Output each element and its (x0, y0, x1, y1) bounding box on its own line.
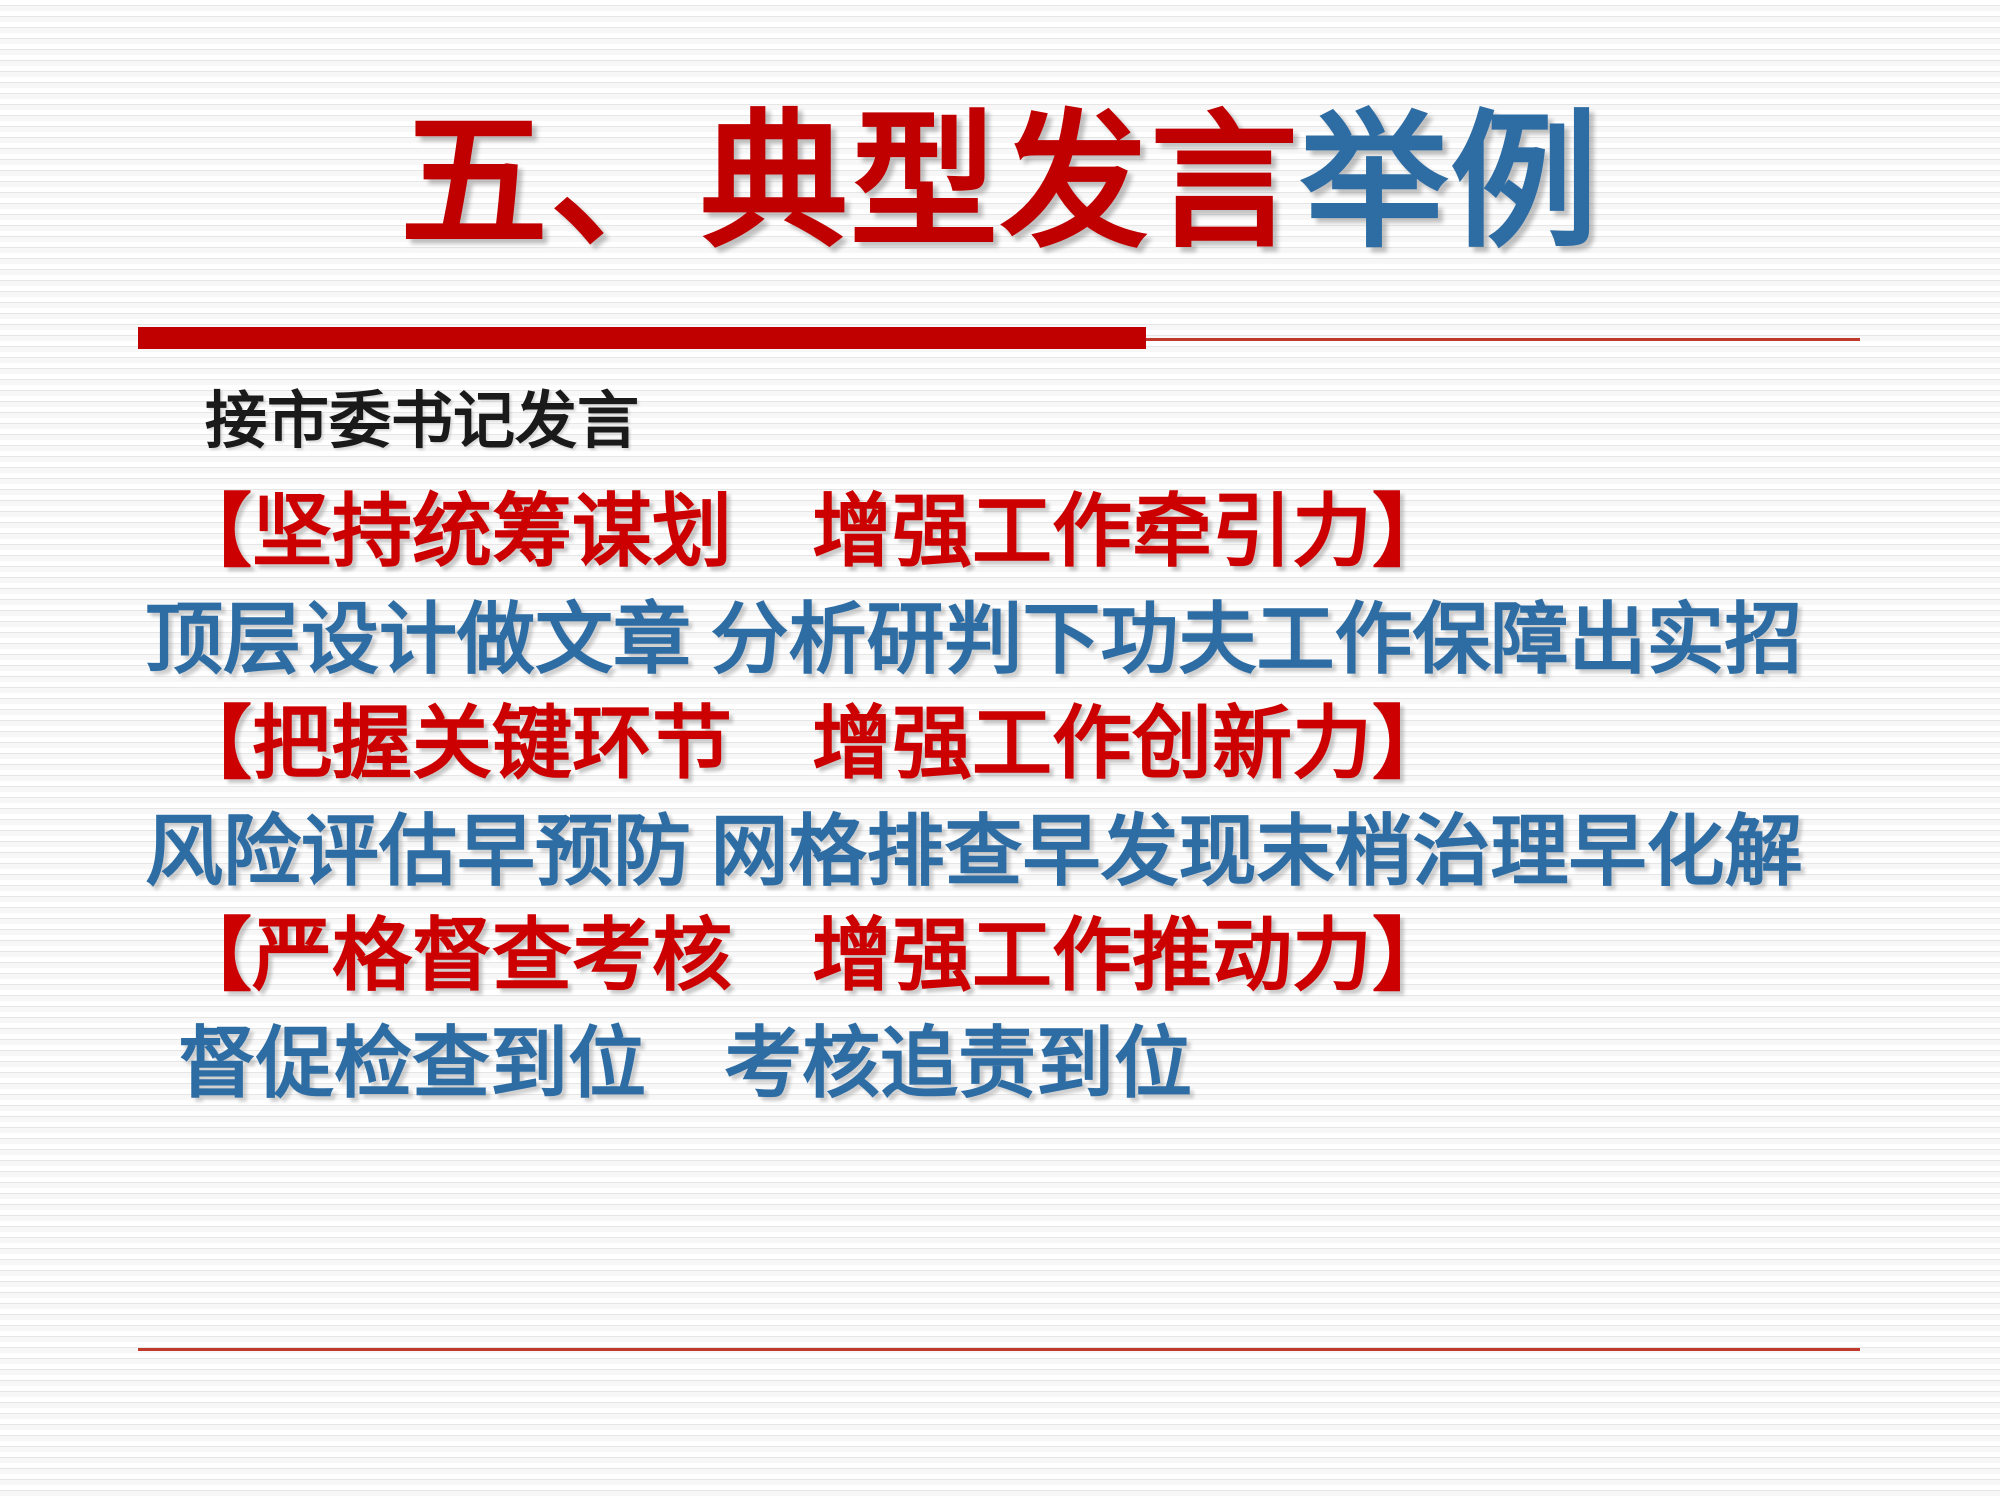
footer-rule (138, 1348, 1860, 1351)
title-underline-thick (138, 327, 1146, 349)
body-line-heading-1: 【坚持统筹谋划 增强工作牵引力】 (0, 481, 2000, 587)
body-line-heading-2: 【把握关键环节 增强工作创新力】 (0, 693, 2000, 799)
body-line-detail-1: 顶层设计做文章 分析研判下功夫工作保障出实招 (0, 587, 2000, 693)
body-line-note: 接市委书记发言 (0, 385, 2000, 481)
body-content: 接市委书记发言 【坚持统筹谋划 增强工作牵引力】 顶层设计做文章 分析研判下功夫… (0, 385, 2000, 1117)
page-title-red-part: 五、典型发言 (400, 108, 1300, 256)
page-title: 五、典型发言 举例 (0, 108, 2000, 256)
page-title-blue-part: 举例 (1300, 108, 1600, 256)
slide-canvas: 五、典型发言 举例 接市委书记发言 【坚持统筹谋划 增强工作牵引力】 顶层设计做… (0, 0, 2000, 1500)
body-line-heading-3: 【严格督查考核 增强工作推动力】 (0, 905, 2000, 1011)
body-line-detail-2: 风险评估早预防 网格排查早发现末梢治理早化解 (0, 799, 2000, 905)
body-line-detail-3: 督促检查到位 考核追责到位 (0, 1011, 2000, 1117)
